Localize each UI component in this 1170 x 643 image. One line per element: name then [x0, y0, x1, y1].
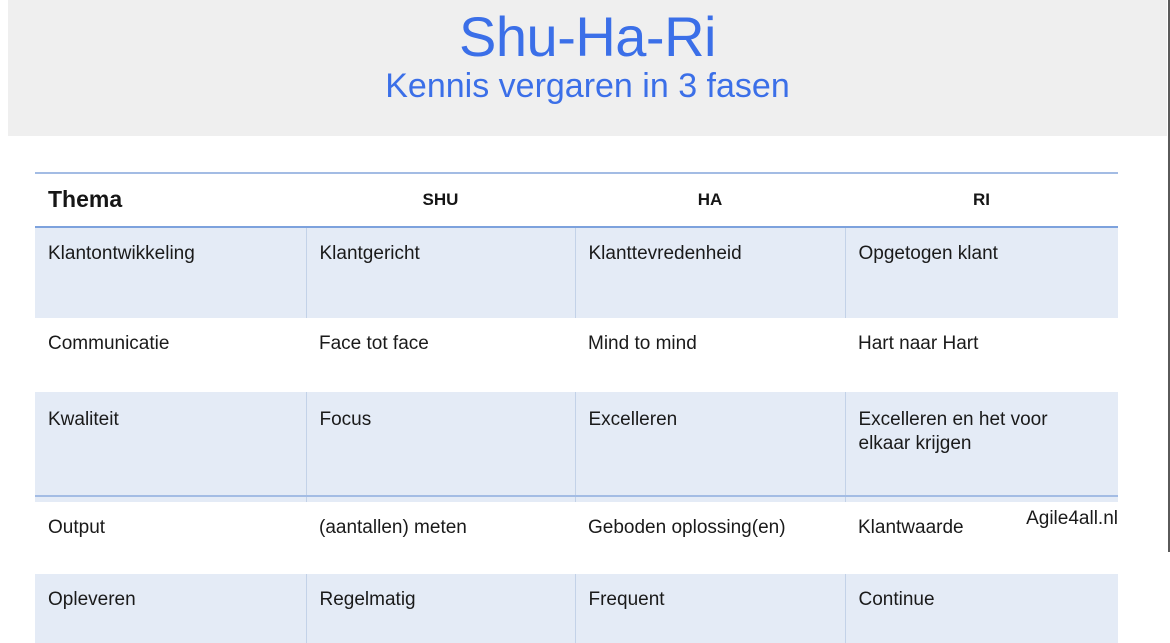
- cell-shu: Klantgericht: [306, 227, 575, 318]
- cell-ri: Continue: [845, 574, 1118, 643]
- footer-credit: Agile4all.nl: [1026, 508, 1118, 530]
- column-header-shu: SHU: [306, 173, 575, 227]
- cell-ha: Klanttevredenheid: [575, 227, 845, 318]
- cell-ha: Mind to mind: [575, 318, 845, 392]
- cell-ha: Frequent: [575, 574, 845, 643]
- cell-ha: Excelleren: [575, 392, 845, 502]
- cell-shu: Regelmatig: [306, 574, 575, 643]
- column-header-ri: RI: [845, 173, 1118, 227]
- cell-ri: Hart naar Hart: [845, 318, 1118, 392]
- table-row: Opleveren Regelmatig Frequent Continue: [35, 574, 1118, 643]
- table-row: Communicatie Face tot face Mind to mind …: [35, 318, 1118, 392]
- cell-shu: Face tot face: [306, 318, 575, 392]
- title-band: Shu-Ha-Ri Kennis vergaren in 3 fasen: [8, 0, 1167, 136]
- slide-title: Shu-Ha-Ri: [459, 6, 716, 69]
- cell-shu: (aantallen) meten: [306, 502, 575, 574]
- table-row: Output (aantallen) meten Geboden oplossi…: [35, 502, 1118, 574]
- shu-ha-ri-table: Thema SHU HA RI Klantontwikkeling Klantg…: [35, 172, 1118, 643]
- table-header-row: Thema SHU HA RI: [35, 173, 1118, 227]
- cell-theme: Output: [35, 502, 306, 574]
- cell-theme: Communicatie: [35, 318, 306, 392]
- cell-shu: Focus: [306, 392, 575, 502]
- cell-theme: Klantontwikkeling: [35, 227, 306, 318]
- column-header-thema: Thema: [35, 173, 306, 227]
- cell-ri: Opgetogen klant: [845, 227, 1118, 318]
- cell-ha: Geboden oplossing(en): [575, 502, 845, 574]
- table-row: Klantontwikkeling Klantgericht Klanttevr…: [35, 227, 1118, 318]
- cell-theme: Opleveren: [35, 574, 306, 643]
- cell-ri: Excelleren en het voor elkaar krijgen: [845, 392, 1118, 502]
- table-bottom-rule: [35, 495, 1118, 497]
- column-header-ha: HA: [575, 173, 845, 227]
- cell-theme: Kwaliteit: [35, 392, 306, 502]
- table-row: Kwaliteit Focus Excelleren Excelleren en…: [35, 392, 1118, 502]
- slide-subtitle: Kennis vergaren in 3 fasen: [385, 67, 789, 106]
